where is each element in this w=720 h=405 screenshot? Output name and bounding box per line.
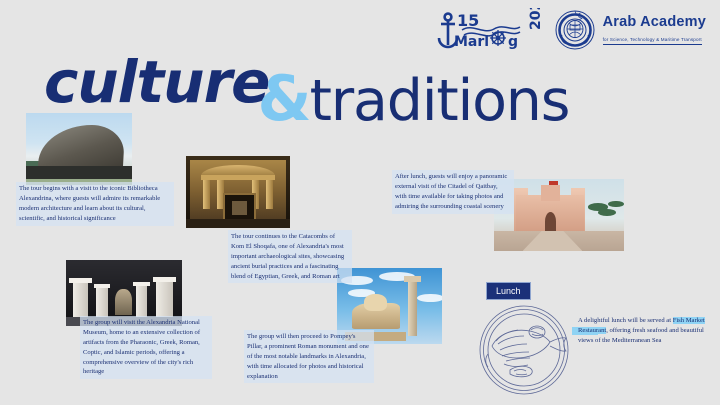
svg-text:2026: 2026 [528,8,540,30]
fish-plate-illustration [474,300,574,400]
caption-catacombs: The tour continues to the Catacombs of K… [228,230,352,283]
title-ampersand: & [258,62,312,135]
photo-bibliotheca [26,113,132,185]
caption-lunch: A delightful lunch will be served at Fis… [578,316,706,346]
lunch-text-before: A delightful lunch will be served at [578,317,673,324]
page-title: culture&traditions [44,44,583,117]
lunch-badge: Lunch [486,282,531,300]
academy-name: Arab Academy [603,15,706,30]
slide-canvas: 15 Marl g 2026 [0,0,720,405]
title-traditions: traditions [310,68,570,134]
caption-bibliotheca: The tour begins with a visit to the icon… [16,182,174,226]
caption-pompey: The group will then proceed to Pompey's … [244,330,374,383]
title-culture: culture [44,48,270,116]
academy-subtitle: for Science, Technology & Maritime Trans… [603,38,702,45]
caption-citadel: After lunch, guests will enjoy a panoram… [392,170,514,214]
caption-museum: The group will visit the Alexandria Nati… [80,316,212,379]
photo-catacombs [186,156,290,228]
